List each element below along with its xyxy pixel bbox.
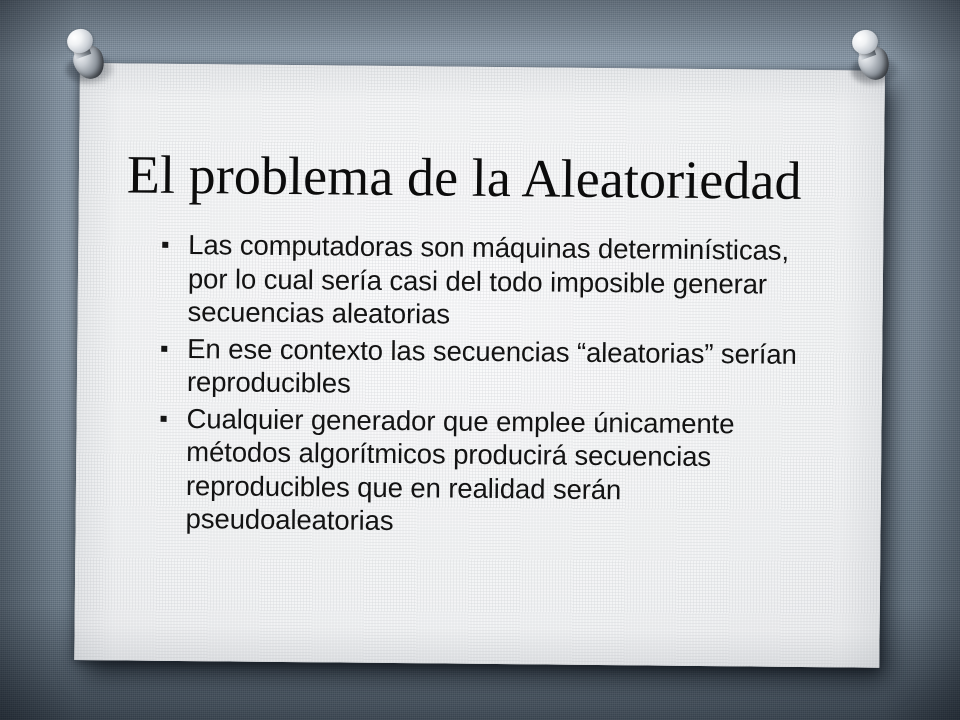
bullet-text-2: En ese contexto las secuencias “aleatori… <box>187 333 797 399</box>
bullet-text-1: Las computadoras son máquinas determinís… <box>187 229 789 330</box>
slide-content: El problema de la Aleatoriedad Las compu… <box>74 63 885 668</box>
presentation-slide: El problema de la Aleatoriedad Las compu… <box>0 0 960 720</box>
bullet-item-1: Las computadoras son máquinas determinís… <box>155 228 816 335</box>
square-bullet-icon <box>161 415 167 421</box>
bullet-item-2: En ese contexto las secuencias “aleatori… <box>155 331 816 404</box>
bullet-list: Las computadoras son máquinas determinís… <box>153 228 816 545</box>
square-bullet-icon <box>161 345 167 351</box>
paper-sheet: El problema de la Aleatoriedad Las compu… <box>74 63 885 668</box>
square-bullet-icon <box>162 242 168 248</box>
slide-title: El problema de la Aleatoriedad <box>127 147 858 211</box>
bullet-text-3-emphasis: pseudoaleatorias <box>185 503 393 536</box>
bullet-item-3: Cualquier generador que emplee únicament… <box>153 401 814 541</box>
bullet-text-3: Cualquier generador que emplee únicament… <box>186 403 735 505</box>
